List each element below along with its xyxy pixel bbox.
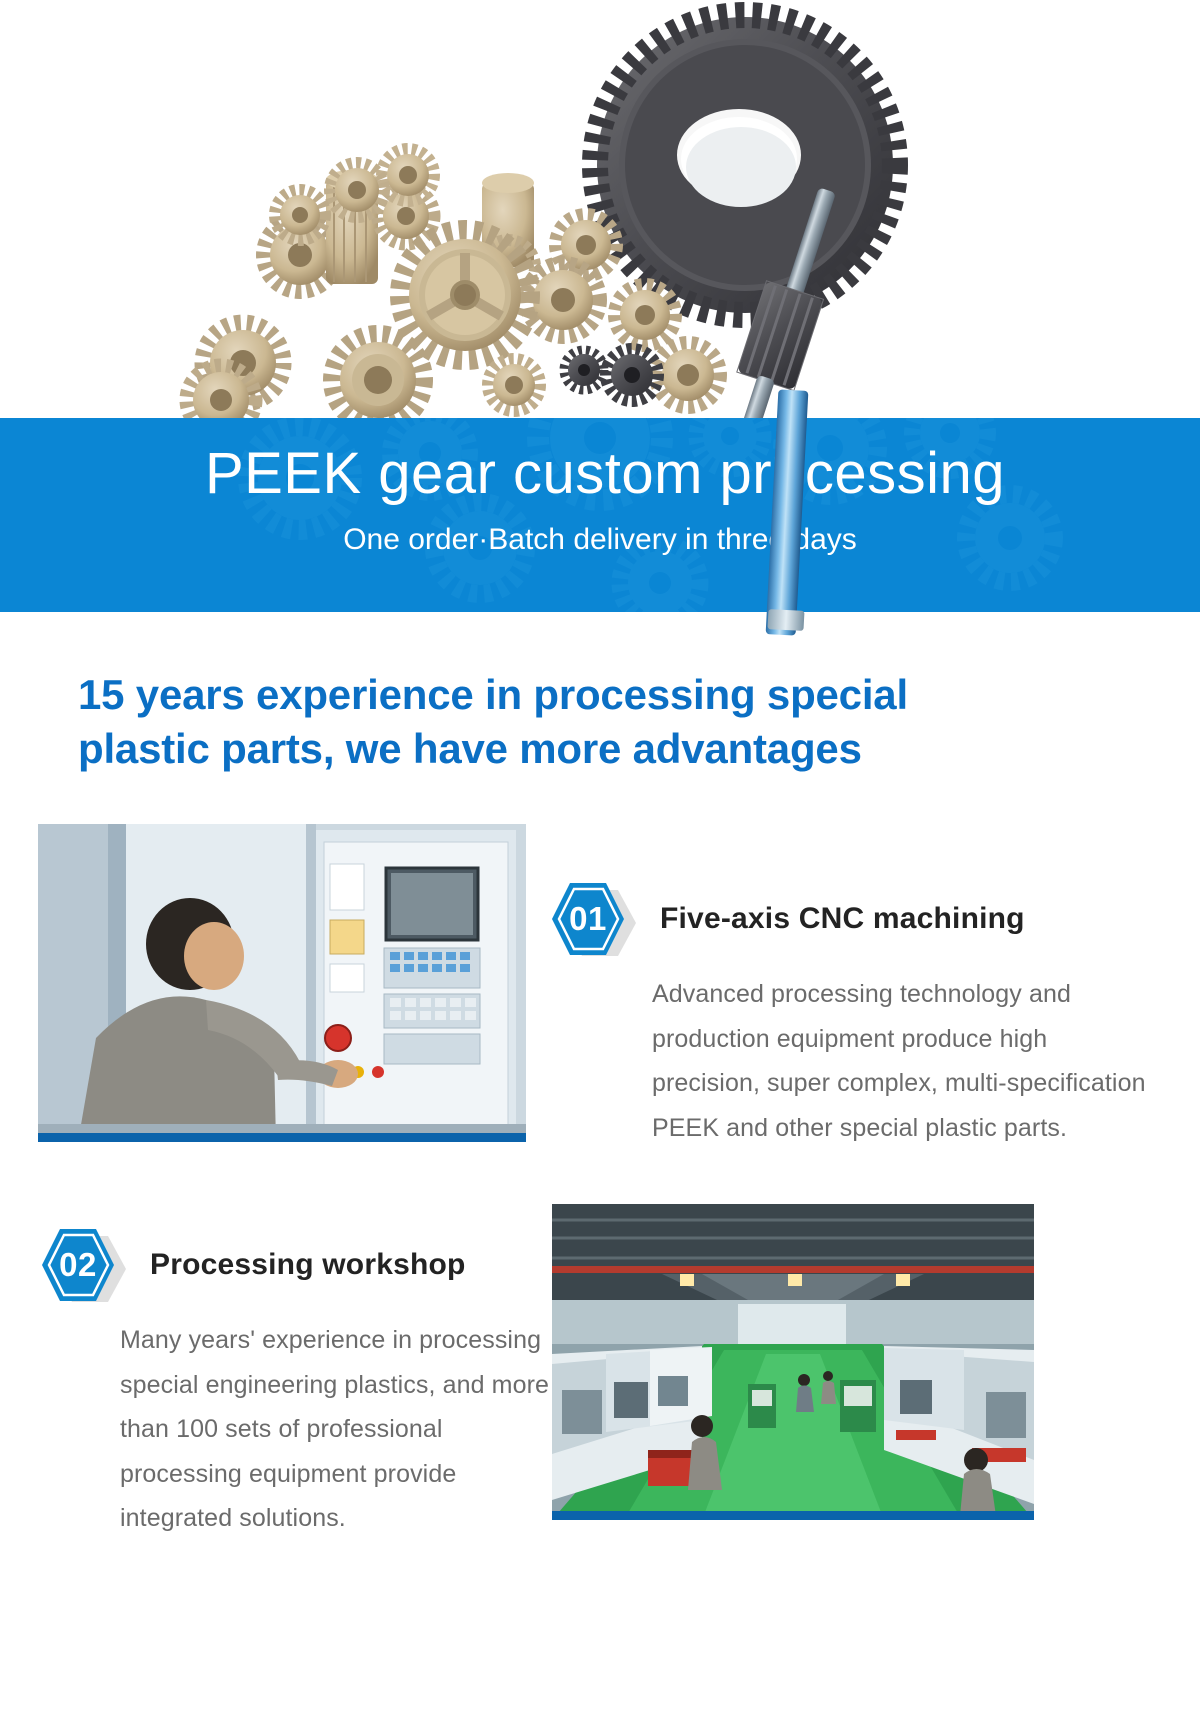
feature-01-title: Five-axis CNC machining bbox=[660, 902, 1025, 936]
banner-title: PEEK gear custom processing bbox=[0, 442, 1200, 507]
section-heading: 15 years experience in processing specia… bbox=[78, 668, 1088, 776]
workshop-illustration bbox=[552, 1204, 1034, 1511]
section-heading-line-2: plastic parts, we have more advantages bbox=[78, 722, 1088, 776]
hexagon-badge-01-number: 01 bbox=[548, 880, 628, 958]
banner-subtitle: One order·Batch delivery in three days bbox=[0, 523, 1200, 557]
feature-02-header: 02 Processing workshop bbox=[38, 1226, 538, 1304]
hero-section: PEEK gear custom processing One order·Ba… bbox=[0, 0, 1200, 672]
hexagon-badge-02-number: 02 bbox=[38, 1226, 118, 1304]
feature-01-body: Advanced processing technology and produ… bbox=[652, 972, 1152, 1150]
feature-02-title: Processing workshop bbox=[150, 1248, 466, 1282]
feature-02-image bbox=[552, 1204, 1034, 1520]
feature-01-text: 01 Five-axis CNC machining Advanced proc… bbox=[548, 880, 1168, 1150]
cnc-machine-illustration bbox=[38, 824, 526, 1133]
workshop-photo bbox=[552, 1204, 1034, 1511]
cnc-machine-photo bbox=[38, 824, 526, 1133]
hexagon-badge-02-icon: 02 bbox=[38, 1226, 128, 1304]
hexagon-badge-01-icon: 01 bbox=[548, 880, 638, 958]
hero-banner: PEEK gear custom processing One order·Ba… bbox=[0, 418, 1200, 612]
hero-product-photo bbox=[0, 0, 1200, 470]
feature-01-image bbox=[38, 824, 526, 1142]
feature-02-text: 02 Processing workshop Many years' exper… bbox=[38, 1226, 538, 1541]
section-heading-line-1: 15 years experience in processing specia… bbox=[78, 668, 1088, 722]
feature-01-header: 01 Five-axis CNC machining bbox=[548, 880, 1168, 958]
gear-illustration bbox=[0, 0, 1200, 470]
blue-shaft-tip-graphic bbox=[768, 609, 805, 631]
feature-02-body: Many years' experience in processing spe… bbox=[120, 1318, 550, 1541]
